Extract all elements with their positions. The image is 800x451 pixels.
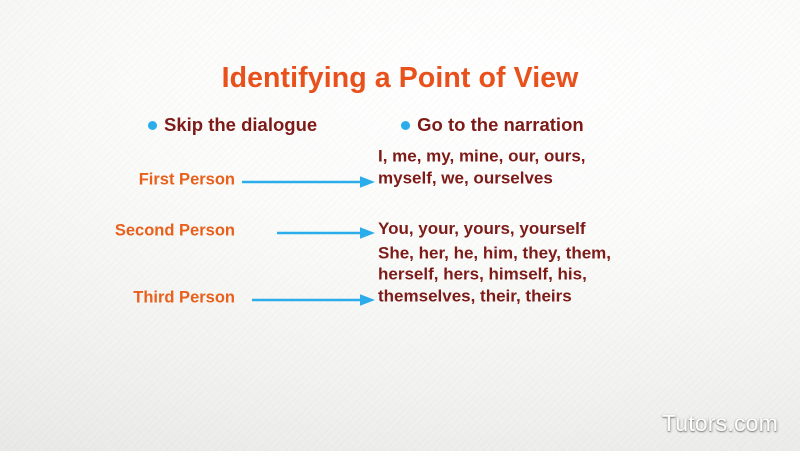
bullet-dot-icon: [401, 121, 410, 130]
bullet-dot-icon: [148, 121, 157, 130]
row-label-second-person: Second Person: [35, 221, 235, 240]
row-label-first-person: First Person: [35, 170, 235, 189]
arrow-right-icon: [242, 175, 375, 189]
row-words-first-person: I, me, my, mine, our, ours, myself, we, …: [378, 146, 586, 189]
list-item-go-to-narration: Go to the narration: [401, 114, 584, 136]
arrow-right-icon: [252, 293, 375, 307]
list-item-label: Go to the narration: [417, 114, 584, 136]
tutors-com-logo: Tutors.com: [662, 410, 778, 437]
slide-canvas: Identifying a Point of View Skip the dia…: [0, 0, 800, 451]
bullet-list: Skip the dialogue Go to the narration: [148, 114, 678, 136]
list-item-skip-dialogue: Skip the dialogue: [148, 114, 317, 136]
row-words-third-person: She, her, he, him, they, them, herself, …: [378, 242, 611, 307]
row-words-second-person: You, your, yours, yourself: [378, 218, 586, 240]
arrow-right-icon: [277, 226, 375, 240]
row-label-third-person: Third Person: [35, 288, 235, 307]
list-item-label: Skip the dialogue: [164, 114, 317, 136]
page-title: Identifying a Point of View: [0, 62, 800, 95]
